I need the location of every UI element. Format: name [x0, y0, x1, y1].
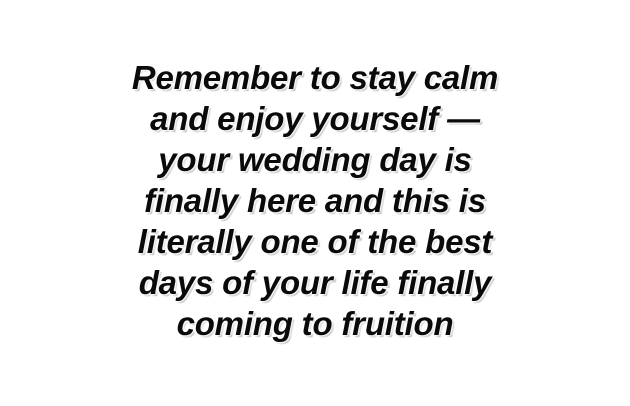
- quote-line: finally here and this is: [58, 180, 572, 221]
- quote-line: your wedding day is: [58, 139, 572, 180]
- quote-line: literally one of the best: [58, 221, 572, 262]
- quote-line: days of your life finally: [58, 262, 572, 303]
- quote-text-block: Remember to stay calm and enjoy yourself…: [0, 57, 630, 344]
- quote-line: Remember to stay calm: [58, 57, 572, 98]
- quote-line: coming to fruition: [58, 303, 572, 344]
- quote-line: and enjoy yourself —: [58, 98, 572, 139]
- quote-poster: Remember to stay calm and enjoy yourself…: [0, 0, 630, 406]
